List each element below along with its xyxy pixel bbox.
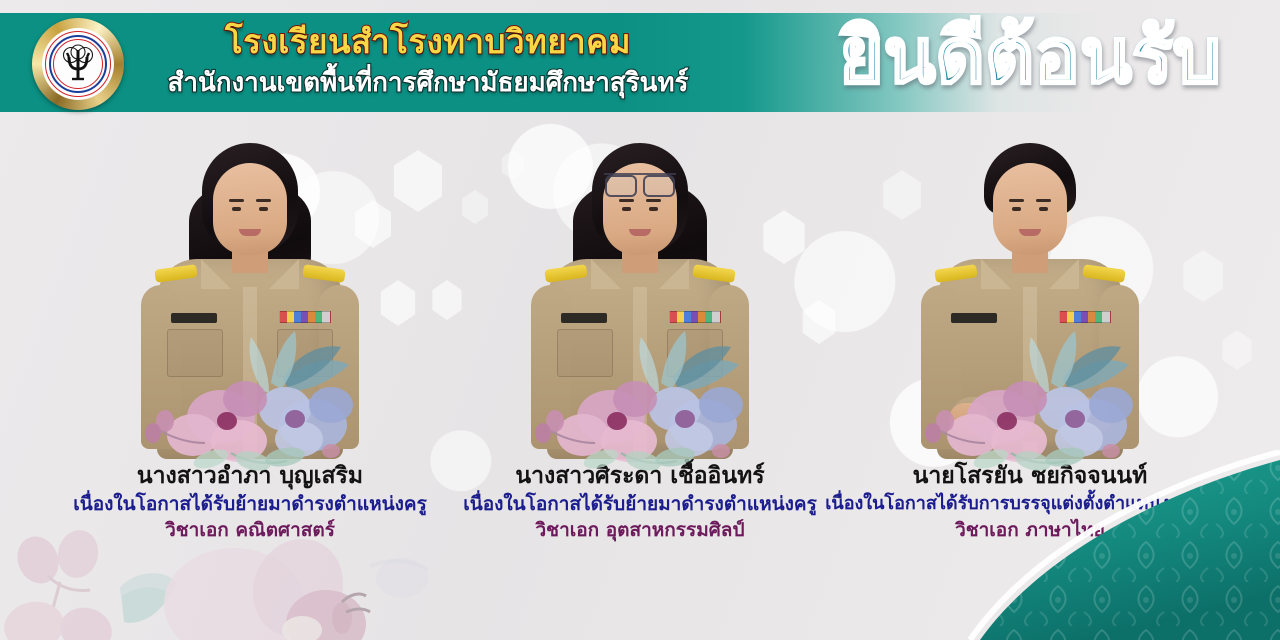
person-card: นางสาวอำภา บุญเสริม เนื่องในโอกาสได้รับย…	[40, 130, 460, 543]
portrait-male-teacher-arms-crossed-khaki-uniform	[820, 130, 1240, 455]
welcome-banner: โรงเรียนสำโรงทาบวิทยาคม สำนักงานเขตพื้นท…	[0, 0, 1280, 640]
person-caption: นางสาวอำภา บุญเสริม เนื่องในโอกาสได้รับย…	[40, 461, 460, 543]
education-office-subtitle: สำนักงานเขตพื้นที่การศึกษามัธยมศึกษาสุริ…	[148, 66, 708, 100]
person-occasion: เนื่องในโอกาสได้รับย้ายมาดำรงตำแหน่งครู	[430, 491, 850, 517]
school-name-title: โรงเรียนสำโรงทาบวิทยาคม	[148, 22, 708, 62]
school-emblem-icon	[32, 18, 124, 110]
teal-thai-pattern-corner-wave	[860, 450, 1280, 640]
person-occasion: เนื่องในโอกาสได้รับย้ายมาดำรงตำแหน่งครู	[40, 491, 460, 517]
person-name: นางสาวอำภา บุญเสริม	[40, 461, 460, 491]
person-major: วิชาเอก อุตสาหกรรมศิลป์	[430, 517, 850, 543]
portrait-female-teacher-glasses-khaki-uniform	[430, 130, 850, 455]
lotus-trident-glyph	[55, 41, 101, 87]
person-name: นางสาวศิระดา เชื้ออินทร์	[430, 461, 850, 491]
person-caption: นางสาวศิระดา เชื้ออินทร์ เนื่องในโอกาสได…	[430, 461, 850, 543]
person-card: นางสาวศิระดา เชื้ออินทร์ เนื่องในโอกาสได…	[430, 130, 850, 543]
person-major: วิชาเอก คณิตศาสตร์	[40, 517, 460, 543]
portrait-female-teacher-khaki-uniform	[40, 130, 460, 455]
welcome-heading: ยินดีต้อนรับ	[790, 4, 1270, 108]
